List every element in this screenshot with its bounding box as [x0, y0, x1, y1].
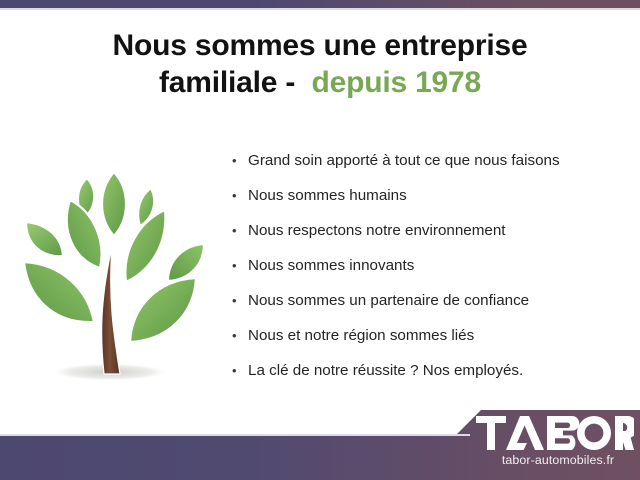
- tree-leaf: [130, 278, 196, 342]
- tree-leaf: [26, 222, 63, 256]
- tree-leaf: [67, 200, 102, 268]
- brand-wordmark: [476, 416, 634, 452]
- slide-canvas: Nous sommes une entreprise familiale - d…: [0, 0, 640, 480]
- top-accent-hairline: [0, 8, 640, 10]
- page-title-line-2-main: familiale -: [159, 66, 311, 99]
- page-title-line-2: familiale - depuis 1978: [0, 65, 640, 102]
- list-item: Nous respectons notre environnement: [228, 218, 628, 253]
- tree-leaf: [168, 244, 204, 281]
- letter-o-glyph: [577, 416, 611, 450]
- tree-svg: [8, 150, 224, 390]
- page-title-accent: depuis 1978: [311, 66, 481, 99]
- tree-canopy: [24, 172, 204, 342]
- footer-hairline: [0, 434, 470, 436]
- brand-url[interactable]: tabor-automobiles.fr: [478, 453, 638, 467]
- letter-b-reversed-glyph: [547, 416, 579, 450]
- tabor-wordmark-svg: [476, 416, 634, 452]
- top-accent-strip: [0, 0, 640, 8]
- list-item: Nous sommes innovants: [228, 253, 628, 288]
- tree-leaf: [102, 172, 126, 236]
- page-title-line-1: Nous sommes une entreprise: [0, 28, 640, 65]
- letter-t-glyph: [476, 416, 506, 450]
- tabor-letters: [476, 416, 634, 450]
- value-proposition-list: Grand soin apporté à tout ce que nous fa…: [228, 148, 628, 393]
- green-tree-illustration: [8, 150, 224, 390]
- list-item: Nous et notre région sommes liés: [228, 323, 628, 358]
- list-item: Nous sommes humains: [228, 183, 628, 218]
- brand-logo[interactable]: tabor-automobiles.fr: [476, 412, 640, 474]
- list-item: Nous sommes un partenaire de confiance: [228, 288, 628, 323]
- list-item: Grand soin apporté à tout ce que nous fa…: [228, 148, 628, 183]
- page-title: Nous sommes une entreprise familiale - d…: [0, 28, 640, 101]
- tree-trunk: [102, 246, 120, 374]
- footer-bar: tabor-automobiles.fr: [0, 406, 640, 480]
- list-item: La clé de notre réussite ? Nos employés.: [228, 358, 628, 393]
- tree-leaf: [24, 262, 94, 322]
- letter-a-glyph: [506, 416, 544, 450]
